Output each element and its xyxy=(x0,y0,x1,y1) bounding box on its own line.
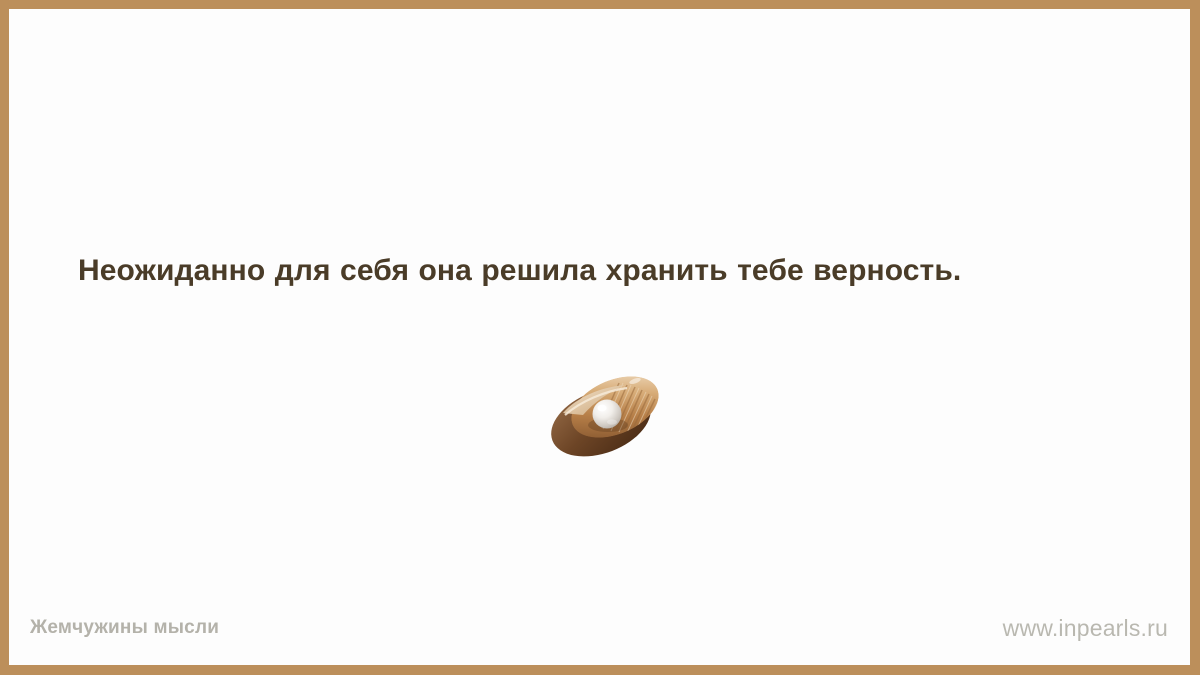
shell-with-pearl-illustration xyxy=(539,367,679,459)
quote-card: Неожиданно для себя она решила хранить т… xyxy=(0,0,1200,675)
quote-text: Неожиданно для себя она решила хранить т… xyxy=(78,245,1138,297)
quote-block: Неожиданно для себя она решила хранить т… xyxy=(78,245,1138,297)
footer-site-link[interactable]: www.inpearls.ru xyxy=(1003,615,1168,642)
shell-with-pearl-icon xyxy=(539,367,679,459)
footer-brand: Жемчужины мысли xyxy=(30,617,219,639)
footer: Жемчужины мысли www.inpearls.ru xyxy=(9,600,1190,656)
